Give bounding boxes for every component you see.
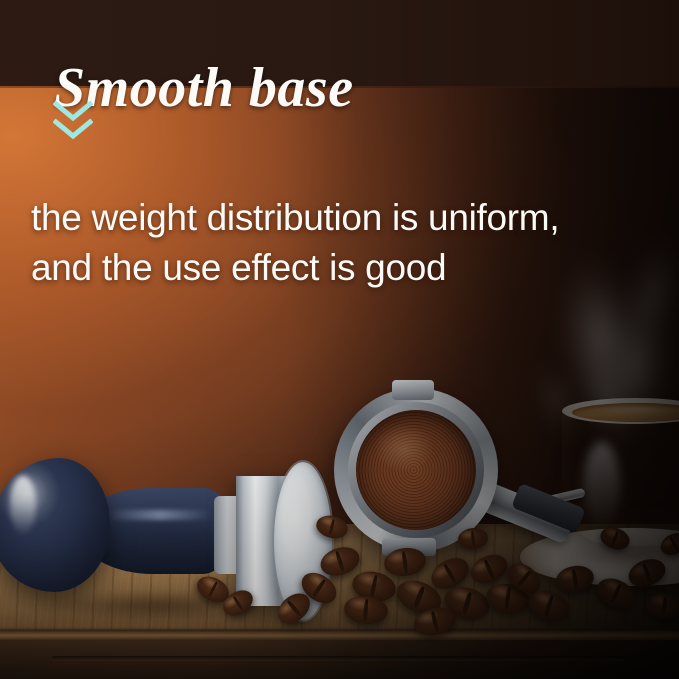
chevron-down-icon-group: [53, 100, 95, 144]
feature-description-line-2: and the use effect is good: [31, 243, 645, 293]
page-title: Smooth base: [54, 58, 354, 118]
product-feature-banner: Smooth base the weight distribution is u…: [0, 0, 679, 679]
feature-description-line-1: the weight distribution is uniform,: [31, 193, 645, 243]
feature-description: the weight distribution is uniform, and …: [31, 193, 645, 293]
chevron-down-icon: [53, 118, 93, 140]
